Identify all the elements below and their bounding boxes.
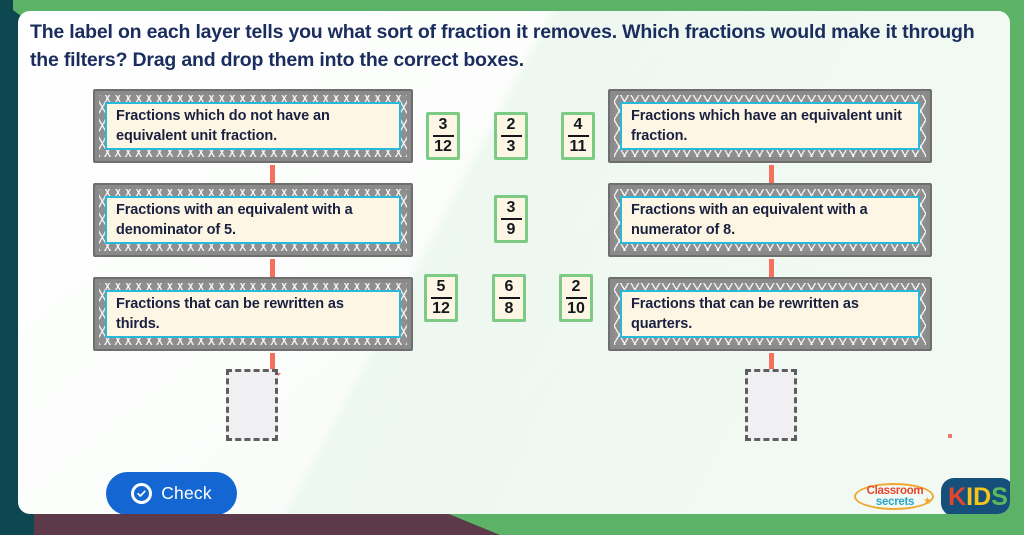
filter-box-left-1: Fractions which do not have an equivalen… [93, 89, 413, 163]
fraction-denominator: 12 [434, 139, 452, 155]
filter-label: Fractions which do not have an equivalen… [116, 106, 390, 146]
fraction-card[interactable]: 6 8 [492, 274, 526, 322]
activity-card: The label on each layer tells you what s… [18, 11, 1010, 514]
fraction-bar [566, 297, 587, 299]
filter-label: Fractions that can be rewritten as third… [116, 294, 390, 334]
fraction-bar [433, 135, 454, 137]
filter-box-right-1: Fractions which have an equivalent unit … [608, 89, 932, 163]
filter-mesh-texture: Fractions that can be rewritten as third… [99, 283, 407, 345]
filter-box-left-3: Fractions that can be rewritten as third… [93, 277, 413, 351]
filter-label: Fractions with an equivalent with a deno… [116, 200, 390, 240]
fraction-numerator: 3 [439, 117, 448, 133]
kids-letter-d: D [973, 483, 990, 512]
drop-zone-right[interactable] [745, 369, 797, 441]
kids-letter-s: S [991, 483, 1007, 512]
filter-label: Fractions that can be rewritten as quart… [631, 294, 909, 334]
filter-inner-panel: Fractions that can be rewritten as third… [105, 290, 401, 338]
kids-letter-k: K [948, 483, 965, 512]
filter-inner-panel: Fractions with an equivalent with a nume… [620, 196, 920, 244]
filter-mesh-texture: Fractions which do not have an equivalen… [99, 95, 407, 157]
star-icon: ★ [923, 497, 932, 507]
filter-box-right-2: Fractions with an equivalent with a nume… [608, 183, 932, 257]
fraction-card[interactable]: 5 12 [424, 274, 458, 322]
filter-inner-panel: Fractions that can be rewritten as quart… [620, 290, 920, 338]
fraction-card[interactable]: 4 11 [561, 112, 595, 160]
check-button[interactable]: Check [106, 472, 237, 514]
check-button-label: Check [161, 483, 212, 504]
kids-letter-i: I [966, 483, 972, 512]
fraction-card[interactable]: 2 3 [494, 112, 528, 160]
fraction-card[interactable]: 3 12 [426, 112, 460, 160]
marker-dot [948, 434, 952, 438]
fraction-card[interactable]: 3 9 [494, 195, 528, 243]
fraction-numerator: 4 [574, 117, 583, 133]
fraction-bar [501, 135, 522, 137]
fraction-bar [431, 297, 452, 299]
classroom-secrets-logo: Classroom secrets ★ [854, 480, 936, 514]
fraction-card[interactable]: 2 10 [559, 274, 593, 322]
filter-mesh-texture: Fractions which have an equivalent unit … [614, 95, 926, 157]
check-circle-icon [131, 483, 152, 504]
fraction-denominator: 10 [567, 301, 585, 317]
fraction-bar [499, 297, 520, 299]
fraction-bar [568, 135, 589, 137]
filter-mesh-texture: Fractions with an equivalent with a deno… [99, 189, 407, 251]
fraction-denominator: 12 [432, 301, 450, 317]
drop-zone-left[interactable] [226, 369, 278, 441]
kids-logo: K I D S [941, 478, 1010, 514]
filter-box-left-2: Fractions with an equivalent with a deno… [93, 183, 413, 257]
filter-inner-panel: Fractions which do not have an equivalen… [105, 102, 401, 150]
filter-label: Fractions which have an equivalent unit … [631, 106, 909, 146]
filter-inner-panel: Fractions which have an equivalent unit … [620, 102, 920, 150]
filter-inner-panel: Fractions with an equivalent with a deno… [105, 196, 401, 244]
fraction-denominator: 3 [507, 139, 516, 155]
frame-teal-edge [0, 0, 13, 535]
filter-mesh-texture: Fractions with an equivalent with a nume… [614, 189, 926, 251]
fraction-numerator: 3 [507, 200, 516, 216]
logo-line-2: secrets [859, 496, 931, 508]
branding-area: Classroom secrets ★ K I D S [854, 477, 1010, 514]
fraction-numerator: 6 [505, 279, 514, 295]
filter-box-right-3: Fractions that can be rewritten as quart… [608, 277, 932, 351]
fraction-denominator: 8 [505, 301, 514, 317]
fraction-numerator: 2 [507, 117, 516, 133]
fraction-numerator: 2 [572, 279, 581, 295]
page-title: The label on each layer tells you what s… [30, 19, 998, 74]
fraction-bar [501, 218, 522, 220]
filter-mesh-texture: Fractions that can be rewritten as quart… [614, 283, 926, 345]
filter-label: Fractions with an equivalent with a nume… [631, 200, 909, 240]
activity-screen: The label on each layer tells you what s… [0, 0, 1024, 535]
fraction-denominator: 11 [570, 139, 587, 155]
card-sheen [18, 11, 1010, 514]
fraction-numerator: 5 [437, 279, 446, 295]
fraction-denominator: 9 [507, 222, 516, 238]
